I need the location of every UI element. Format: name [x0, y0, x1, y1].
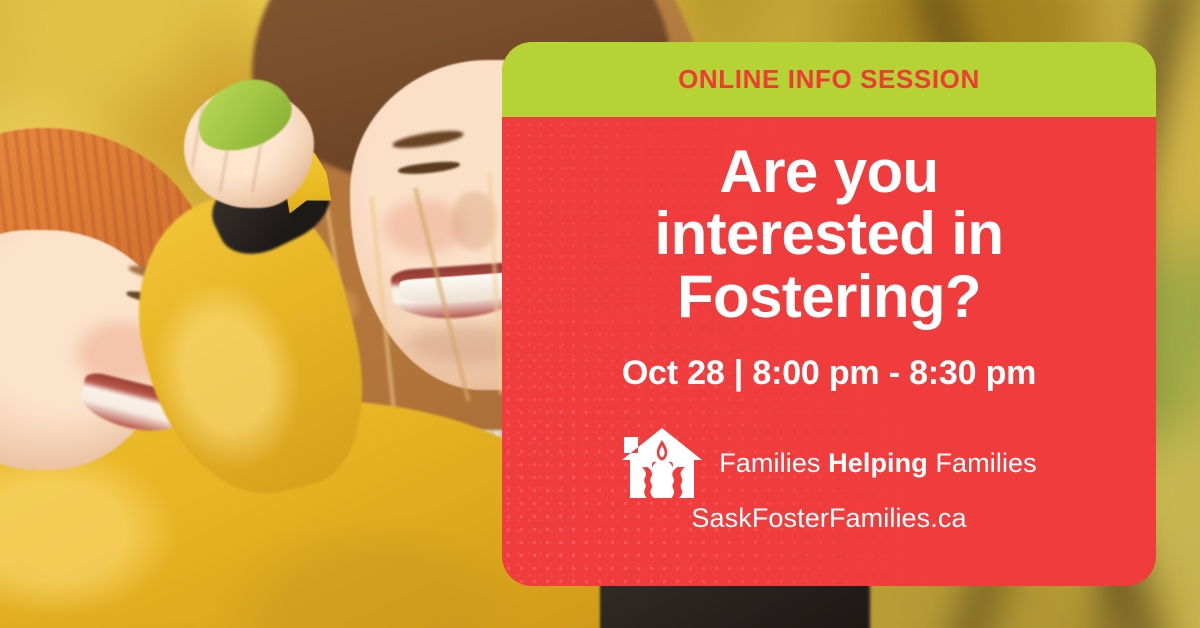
info-panel: ONLINE INFO SESSION Are you interested i…	[502, 42, 1156, 586]
headline-line-2: interested in	[655, 203, 1004, 265]
house-with-family-logo-icon	[621, 427, 703, 499]
headline: Are you interested in Fostering?	[635, 141, 1024, 328]
organization-website-url: SaskFosterFamilies.ca	[691, 503, 966, 534]
organization-logo-block: Families Helping Families SaskFosterFami…	[621, 427, 1037, 534]
poster-canvas: ONLINE INFO SESSION Are you interested i…	[0, 0, 1200, 628]
headline-line-1: Are you	[655, 141, 1004, 203]
panel-header-banner: ONLINE INFO SESSION	[502, 42, 1156, 117]
wordmark-emphasis: Helping	[828, 448, 928, 478]
headline-line-3: Fostering?	[655, 266, 1004, 328]
panel-content: Are you interested in Fostering? Oct 28 …	[502, 117, 1156, 586]
session-datetime: Oct 28 | 8:00 pm - 8:30 pm	[622, 354, 1036, 393]
online-info-session-label: ONLINE INFO SESSION	[678, 64, 980, 95]
logo-wordmark: Families Helping Families	[719, 448, 1037, 479]
wordmark-suffix: Families	[928, 448, 1037, 478]
wordmark-prefix: Families	[719, 448, 828, 478]
logo-row: Families Helping Families	[621, 427, 1037, 499]
